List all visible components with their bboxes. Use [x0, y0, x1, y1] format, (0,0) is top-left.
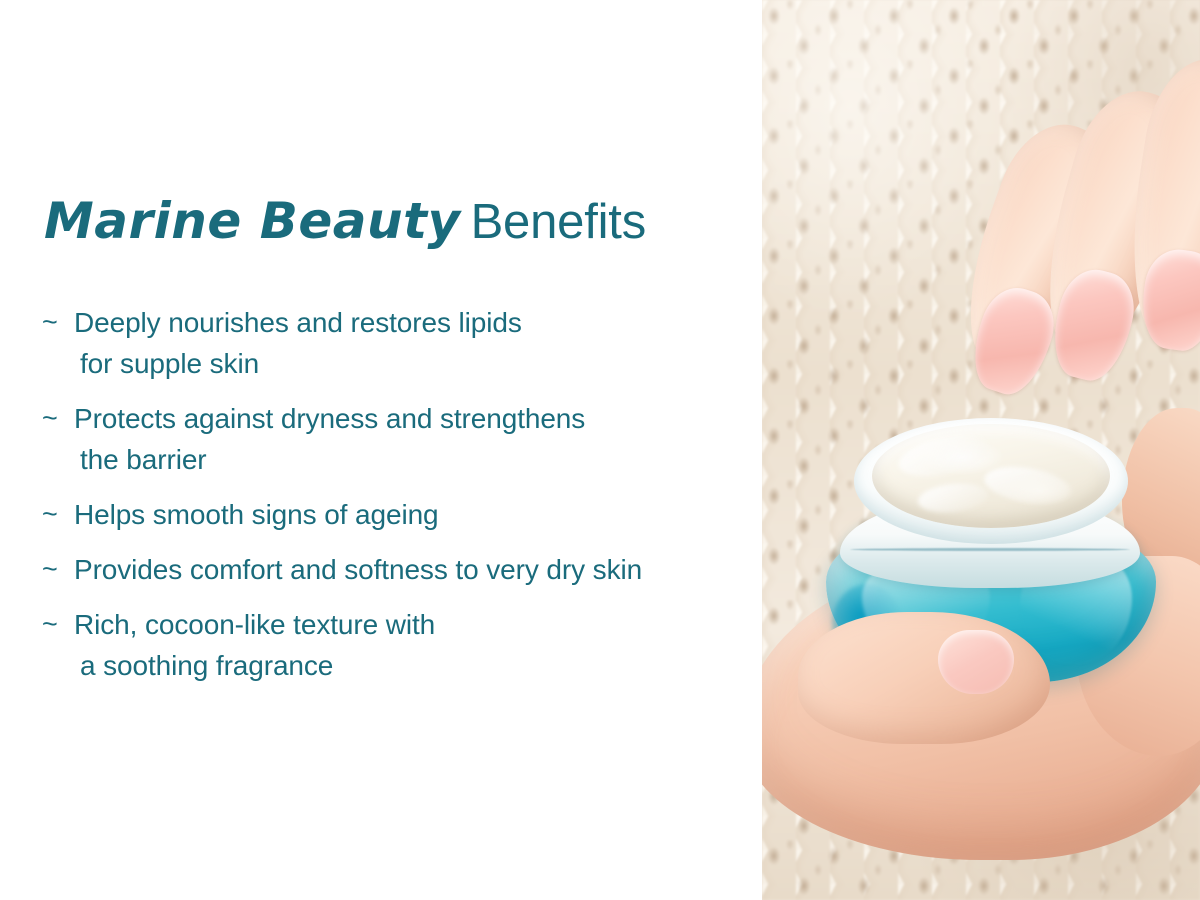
list-item: ~ Rich, cocoon-like texture with a sooth… — [40, 604, 740, 686]
list-item-line-1: Rich, cocoon-like texture with — [74, 609, 435, 640]
tilde-bullet-icon: ~ — [40, 604, 74, 645]
text-panel: Marine BeautyBenefits ~ Deeply nourishes… — [0, 0, 762, 900]
jar-rim-seam — [850, 548, 1130, 551]
list-item: ~ Protects against dryness and strengthe… — [40, 398, 740, 480]
list-item-line-1: Helps smooth signs of ageing — [74, 499, 439, 530]
title-script-part: Marine Beauty — [44, 192, 461, 250]
tilde-bullet-icon: ~ — [40, 398, 74, 439]
list-item-line-2: for supple skin — [74, 343, 740, 384]
page-title: Marine BeautyBenefits — [44, 196, 646, 247]
tilde-bullet-icon: ~ — [40, 549, 74, 590]
title-plain-part: Benefits — [471, 195, 646, 249]
benefits-list: ~ Deeply nourishes and restores lipids f… — [40, 302, 740, 700]
list-item: ~ Helps smooth signs of ageing — [40, 494, 740, 535]
list-item: ~ Provides comfort and softness to very … — [40, 549, 740, 590]
product-photo — [762, 0, 1200, 900]
tilde-bullet-icon: ~ — [40, 494, 74, 535]
list-item-line-2: the barrier — [74, 439, 740, 480]
lower-thumb — [798, 612, 1050, 744]
upper-hand — [930, 0, 1200, 440]
thumbnail-nail — [938, 630, 1014, 694]
list-item-text: Provides comfort and softness to very dr… — [74, 549, 740, 590]
list-item-line-1: Provides comfort and softness to very dr… — [74, 554, 642, 585]
list-item-line-1: Protects against dryness and strengthens — [74, 403, 585, 434]
list-item-text: Helps smooth signs of ageing — [74, 494, 740, 535]
list-item-line-2: a soothing fragrance — [74, 645, 740, 686]
list-item-text: Deeply nourishes and restores lipids for… — [74, 302, 740, 384]
tilde-bullet-icon: ~ — [40, 302, 74, 343]
slide-root: Marine BeautyBenefits ~ Deeply nourishes… — [0, 0, 1200, 900]
list-item-text: Protects against dryness and strengthens… — [74, 398, 740, 480]
list-item-text: Rich, cocoon-like texture with a soothin… — [74, 604, 740, 686]
list-item-line-1: Deeply nourishes and restores lipids — [74, 307, 522, 338]
list-item: ~ Deeply nourishes and restores lipids f… — [40, 302, 740, 384]
